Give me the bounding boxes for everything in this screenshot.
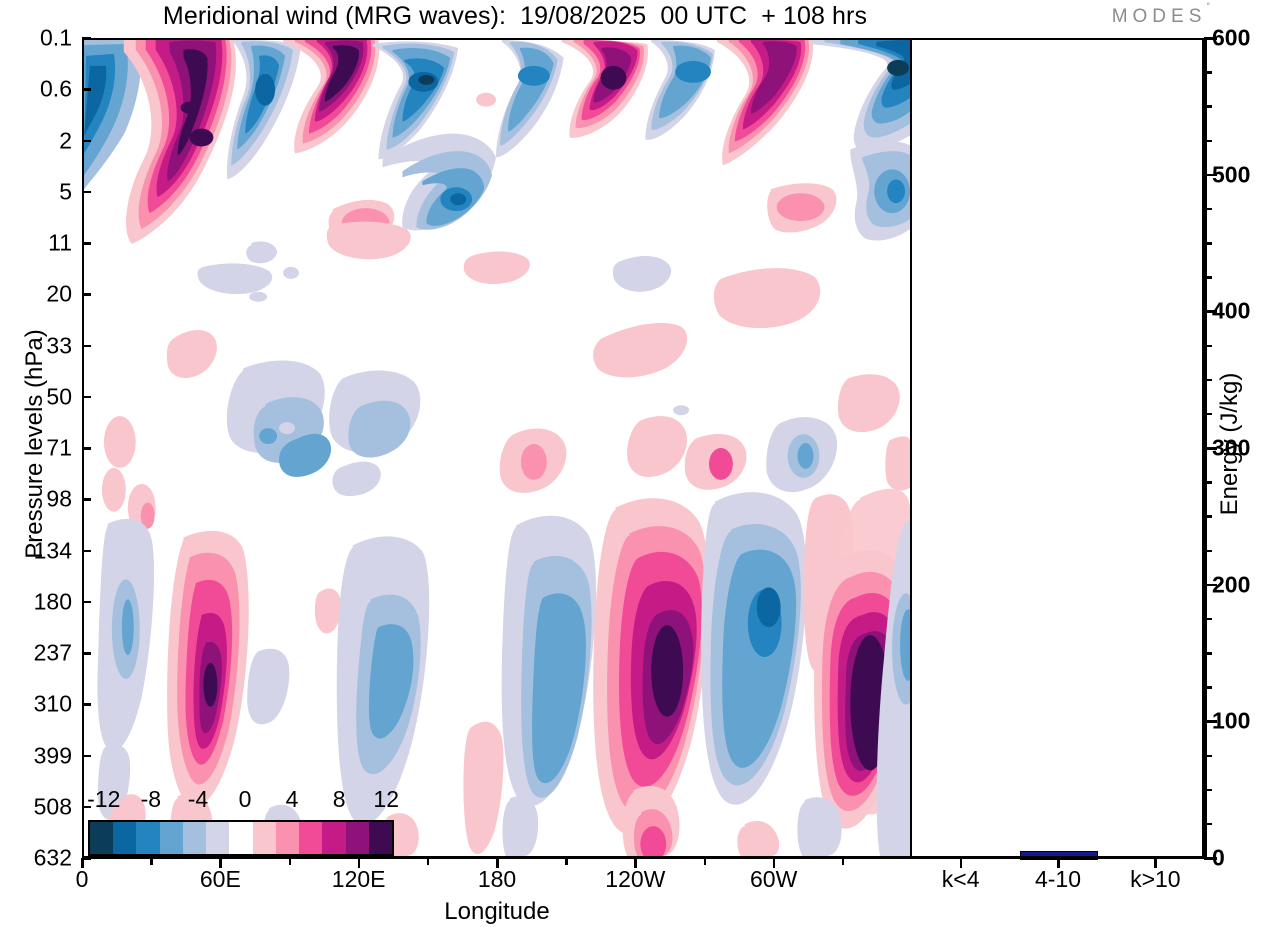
energy-tick-minor <box>1204 515 1212 518</box>
y-tick-mark-0.6 <box>82 88 91 91</box>
y-tick-label-508: 508 <box>34 793 72 820</box>
meridional-wind-contour-field <box>84 40 910 856</box>
modes-logo-mark: ° <box>1206 1 1210 11</box>
energy-tick-minor <box>1204 379 1212 382</box>
energy-bar-tick <box>960 858 963 868</box>
x-minor-tick <box>150 858 153 865</box>
energy-bar-panel[interactable] <box>912 38 1204 858</box>
y-axis-ticks <box>82 0 94 930</box>
y-tick-label-632: 632 <box>34 845 72 872</box>
contour-plot-panel[interactable] <box>82 38 912 858</box>
y-tick-label-310: 310 <box>34 691 72 718</box>
energy-tick-major <box>1204 37 1217 40</box>
y-tick-mark-71 <box>82 447 91 450</box>
energy-bar-tick <box>1057 858 1060 868</box>
energy-tick-minor <box>1204 550 1212 553</box>
x-tick-mark-180 <box>496 858 499 868</box>
colorbar-swatches <box>88 820 394 856</box>
energy-tick-minor <box>1204 208 1212 211</box>
energy-tick-minor <box>1204 140 1212 143</box>
colorbar-swatch-11 <box>346 822 369 854</box>
colorbar-swatch-2 <box>136 822 159 854</box>
energy-tick-label-600: 600 <box>1212 25 1250 52</box>
y-tick-mark-508 <box>82 806 91 809</box>
energy-tick-minor <box>1204 686 1212 689</box>
energy-tick-major <box>1204 720 1217 723</box>
y-tick-mark-98 <box>82 498 91 501</box>
energy-tick-minor <box>1204 652 1212 655</box>
y-tick-label-50: 50 <box>46 383 72 410</box>
colorbar-swatch-8 <box>276 822 299 854</box>
x-tick-mark-120W <box>634 858 637 868</box>
energy-tick-minor <box>1204 789 1212 792</box>
colorbar-tick-0: 0 <box>239 786 252 813</box>
y-tick-mark-0.1 <box>82 37 91 40</box>
y-tick-mark-399 <box>82 755 91 758</box>
y-tick-label-98: 98 <box>46 486 72 513</box>
energy-tick-major <box>1204 174 1217 177</box>
x-tick-label-120W: 120W <box>605 866 665 893</box>
energy-tick-minor <box>1204 823 1212 826</box>
y-tick-mark-180 <box>82 601 91 604</box>
energy-tick-minor <box>1204 618 1212 621</box>
y-tick-mark-33 <box>82 345 91 348</box>
y-axis-title: Pressure levels (hPa) <box>21 244 49 644</box>
y-tick-label-0.6: 0.6 <box>40 76 72 103</box>
y-tick-mark-134 <box>82 550 91 553</box>
y-tick-label-11: 11 <box>48 230 72 257</box>
energy-bar-label-k>10: k>10 <box>1130 866 1181 893</box>
colorbar-tick-4: 4 <box>286 786 299 813</box>
colorbar-swatch-7 <box>253 822 276 854</box>
colorbar-tick--8: -8 <box>141 786 161 813</box>
colorbar-legend[interactable] <box>88 820 394 856</box>
y-tick-mark-237 <box>82 652 91 655</box>
page-title: Meridional wind (MRG waves): 19/08/2025 … <box>0 2 1030 31</box>
energy-tick-minor <box>1204 413 1212 416</box>
x-minor-tick <box>565 858 568 865</box>
right-axis-title: Energy (J/kg) <box>1216 244 1244 644</box>
y-tick-mark-5 <box>82 191 91 194</box>
colorbar-swatch-9 <box>299 822 322 854</box>
x-tick-label-60E: 60E <box>200 866 241 893</box>
x-tick-label-60W: 60W <box>750 866 797 893</box>
y-tick-mark-2 <box>82 140 91 143</box>
y-tick-label-0.1: 0.1 <box>40 25 72 52</box>
colorbar-swatch-1 <box>113 822 136 854</box>
y-tick-label-399: 399 <box>34 742 72 769</box>
energy-tick-minor <box>1204 755 1212 758</box>
bottom-axis-spine <box>82 856 1206 859</box>
y-tick-mark-310 <box>82 703 91 706</box>
energy-tick-minor <box>1204 71 1212 74</box>
y-tick-mark-11 <box>82 242 91 245</box>
colorbar-swatch-5 <box>206 822 229 854</box>
x-tick-label-180: 180 <box>478 866 516 893</box>
x-tick-label-120E: 120E <box>332 866 386 893</box>
y-tick-label-5: 5 <box>59 178 72 205</box>
x-tick-mark-120E <box>358 858 361 868</box>
energy-bar-label-k<4: k<4 <box>942 866 980 893</box>
colorbar-swatch-4 <box>183 822 206 854</box>
energy-bar-tick <box>1154 858 1157 868</box>
x-axis-title: Longitude <box>82 898 912 926</box>
energy-tick-label-500: 500 <box>1212 161 1250 188</box>
x-minor-tick <box>704 858 707 865</box>
colorbar-tick-8: 8 <box>333 786 346 813</box>
y-tick-mark-20 <box>82 293 91 296</box>
y-tick-label-71: 71 <box>46 435 72 462</box>
energy-tick-minor <box>1204 105 1212 108</box>
x-minor-tick <box>427 858 430 865</box>
energy-tick-minor <box>1204 481 1212 484</box>
energy-tick-label-100: 100 <box>1212 708 1250 735</box>
x-tick-mark-60W <box>773 858 776 868</box>
y-tick-label-33: 33 <box>46 332 72 359</box>
modes-logo: MODES° <box>1112 6 1210 28</box>
colorbar-tick--4: -4 <box>188 786 208 813</box>
y-tick-mark-50 <box>82 396 91 399</box>
energy-bar-label-4-10: 4-10 <box>1035 866 1081 893</box>
y-tick-label-20: 20 <box>46 281 72 308</box>
x-minor-tick <box>289 858 292 865</box>
energy-tick-minor <box>1204 345 1212 348</box>
modes-logo-text: MODES <box>1112 6 1207 27</box>
y-tick-label-2: 2 <box>59 127 72 154</box>
x-tick-mark-0 <box>81 858 84 868</box>
colorbar-swatch-10 <box>322 822 345 854</box>
x-minor-tick <box>842 858 845 865</box>
colorbar-swatch-3 <box>160 822 183 854</box>
energy-tick-minor <box>1204 242 1212 245</box>
colorbar-tick-12: 12 <box>373 786 399 813</box>
energy-tick-minor <box>1204 276 1212 279</box>
x-tick-mark-60E <box>219 858 222 868</box>
colorbar-swatch-12 <box>369 822 392 854</box>
x-tick-label-0: 0 <box>76 866 89 893</box>
colorbar-swatch-6 <box>229 822 252 854</box>
